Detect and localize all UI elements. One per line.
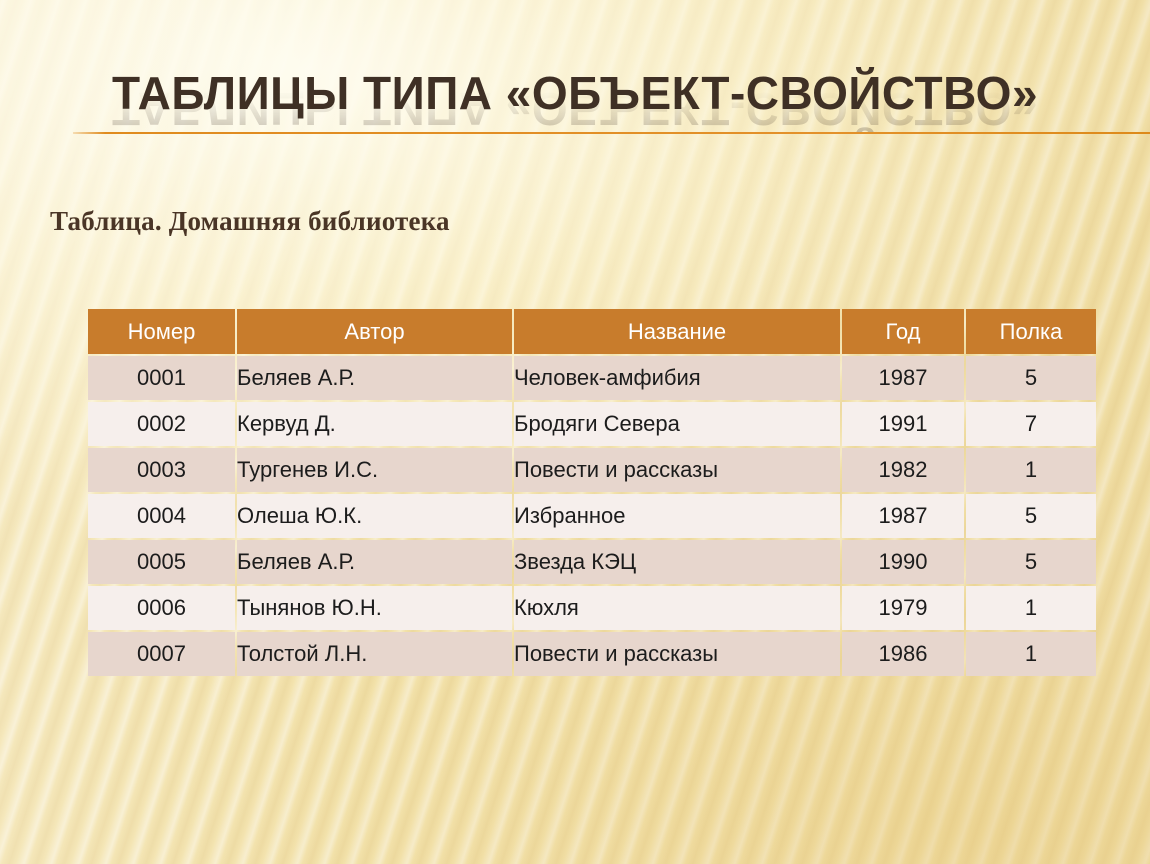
table-row: 0001 Беляев А.Р. Человек-амфибия 1987 5 [88,356,1096,400]
cell-year: 1982 [842,448,964,492]
cell-number: 0005 [88,540,235,584]
cell-number: 0003 [88,448,235,492]
table-header: Номер Автор Название Год Полка [88,309,1096,354]
cell-year: 1987 [842,356,964,400]
cell-title: Звезда КЭЦ [514,540,840,584]
cell-author: Беляев А.Р. [237,540,512,584]
cell-number: 0002 [88,402,235,446]
column-header-number: Номер [88,309,235,354]
cell-title: Человек-амфибия [514,356,840,400]
table-row: 0007 Толстой Л.Н. Повести и рассказы 198… [88,632,1096,676]
page-title: Таблицы типа «Объект-свойство» [0,70,1150,116]
table-row: 0005 Беляев А.Р. Звезда КЭЦ 1990 5 [88,540,1096,584]
library-table: Номер Автор Название Год Полка 0001 Беля… [86,307,1098,678]
cell-author: Толстой Л.Н. [237,632,512,676]
table-row: 0003 Тургенев И.С. Повести и рассказы 19… [88,448,1096,492]
cell-title: Повести и рассказы [514,632,840,676]
cell-year: 1990 [842,540,964,584]
cell-shelf: 1 [966,448,1096,492]
slide-title-block: Таблицы типа «Объект-свойство» Таблицы т… [0,70,1150,200]
table-row: 0002 Кервуд Д. Бродяги Севера 1991 7 [88,402,1096,446]
cell-number: 0006 [88,586,235,630]
column-header-author: Автор [237,309,512,354]
cell-author: Кервуд Д. [237,402,512,446]
column-header-shelf: Полка [966,309,1096,354]
cell-shelf: 5 [966,540,1096,584]
cell-shelf: 1 [966,632,1096,676]
cell-shelf: 5 [966,356,1096,400]
table-caption: Таблица. Домашняя библиотека [50,206,450,237]
table-row: 0004 Олеша Ю.К. Избранное 1987 5 [88,494,1096,538]
cell-number: 0007 [88,632,235,676]
cell-author: Олеша Ю.К. [237,494,512,538]
cell-title: Повести и рассказы [514,448,840,492]
table-body: 0001 Беляев А.Р. Человек-амфибия 1987 5 … [88,356,1096,676]
cell-year: 1991 [842,402,964,446]
column-header-year: Год [842,309,964,354]
table-header-row: Номер Автор Название Год Полка [88,309,1096,354]
cell-number: 0001 [88,356,235,400]
cell-author: Тынянов Ю.Н. [237,586,512,630]
cell-number: 0004 [88,494,235,538]
cell-author: Беляев А.Р. [237,356,512,400]
cell-shelf: 1 [966,586,1096,630]
cell-year: 1987 [842,494,964,538]
cell-year: 1986 [842,632,964,676]
presentation-slide: Таблицы типа «Объект-свойство» Таблицы т… [0,0,1150,864]
title-divider-line [73,132,1150,134]
cell-year: 1979 [842,586,964,630]
cell-title: Избранное [514,494,840,538]
column-header-title: Название [514,309,840,354]
cell-shelf: 7 [966,402,1096,446]
cell-shelf: 5 [966,494,1096,538]
cell-title: Кюхля [514,586,840,630]
table-row: 0006 Тынянов Ю.Н. Кюхля 1979 1 [88,586,1096,630]
cell-author: Тургенев И.С. [237,448,512,492]
library-table-container: Номер Автор Название Год Полка 0001 Беля… [86,307,1098,678]
cell-title: Бродяги Севера [514,402,840,446]
